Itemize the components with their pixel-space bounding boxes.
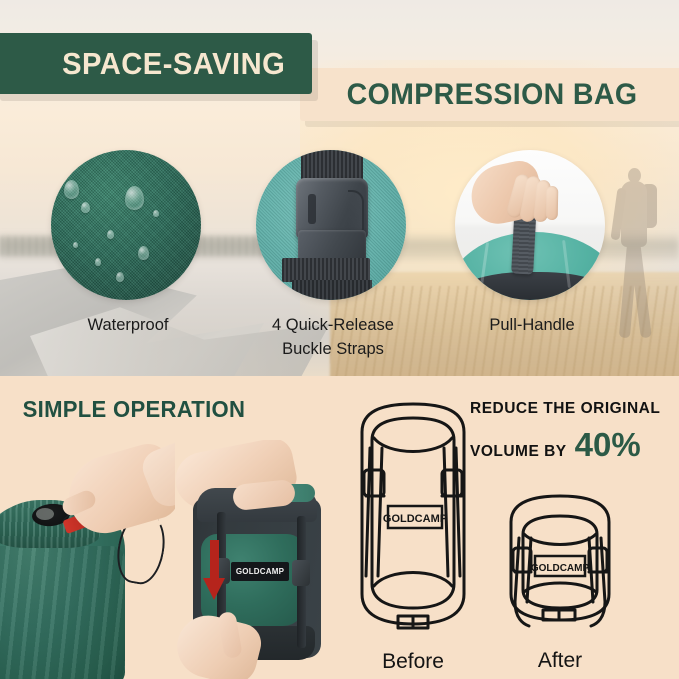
webbing-strap-tail <box>292 280 372 300</box>
water-droplet <box>107 230 114 239</box>
bag-brand-text: GOLDCAMP <box>236 567 284 576</box>
feature-waterproof-image <box>51 150 201 300</box>
feature-buckle-image <box>256 150 406 300</box>
simple-operation-heading: SIMPLE OPERATION <box>23 396 246 423</box>
headline-secondary-text: COMPRESSION BAG <box>347 78 638 112</box>
bag-brand-label: GOLDCAMP <box>231 562 289 581</box>
hiker-silhouette <box>608 168 662 358</box>
after-label: After <box>495 649 625 673</box>
arrow-head <box>203 578 225 600</box>
headline-banner-primary: SPACE-SAVING <box>0 33 312 94</box>
reduction-line-1: REDUCE THE ORIGINAL <box>470 400 660 418</box>
buckle-right <box>292 560 310 586</box>
buckle-slot <box>308 194 316 224</box>
operation-photo-drawstring <box>0 442 196 679</box>
headline-banner-secondary: COMPRESSION BAG <box>300 68 679 121</box>
feature-buckle-label-line2: Buckle Straps <box>256 338 410 362</box>
down-arrow-red-icon <box>203 540 225 602</box>
feature-buckle-straps: 4 Quick-Release Buckle Straps <box>256 150 410 362</box>
water-droplet <box>138 246 149 260</box>
operation-photo-compressing: GOLDCAMP <box>175 440 355 679</box>
before-diagram: GOLDCAMP Before <box>348 398 478 674</box>
water-droplet <box>64 180 79 199</box>
water-droplet <box>95 258 101 266</box>
water-droplet <box>116 272 124 282</box>
feature-pull-handle-image <box>455 150 605 300</box>
waterproof-fabric-texture <box>51 150 201 300</box>
webbing-strap-bottom <box>282 258 370 282</box>
feature-waterproof: Waterproof <box>51 150 205 338</box>
after-bag-outline: GOLDCAMP <box>495 490 625 642</box>
water-droplet <box>153 210 159 217</box>
headline-primary-text: SPACE-SAVING <box>62 46 285 82</box>
water-droplet <box>73 242 78 248</box>
before-bag-outline: GOLDCAMP <box>348 398 478 643</box>
volume-reduction-text: REDUCE THE ORIGINAL VOLUME BY 40% <box>470 400 660 461</box>
water-droplet <box>81 202 90 213</box>
reduction-line-2: VOLUME BY 40% <box>470 428 660 461</box>
feature-waterproof-label: Waterproof <box>51 314 205 338</box>
reduction-prefix: VOLUME BY <box>470 443 567 461</box>
feature-buckle-label: 4 Quick-Release Buckle Straps <box>256 314 410 362</box>
feature-pull-handle: Pull-Handle <box>455 150 609 338</box>
infographic-page: SPACE-SAVING COMPRESSION BAG Waterproof <box>0 0 679 679</box>
finger <box>546 186 559 220</box>
water-droplet <box>125 186 144 210</box>
svg-text:GOLDCAMP: GOLDCAMP <box>383 513 447 525</box>
bag-inner-contents <box>36 508 54 520</box>
bag-fabric-creases <box>0 546 125 679</box>
svg-text:GOLDCAMP: GOLDCAMP <box>531 563 590 574</box>
arrow-shaft <box>210 540 219 580</box>
feature-buckle-label-line1: 4 Quick-Release <box>256 314 410 338</box>
before-label: Before <box>348 650 478 674</box>
reduction-percent: 40% <box>575 428 641 461</box>
feature-pull-handle-label: Pull-Handle <box>455 314 609 338</box>
after-diagram: GOLDCAMP After <box>495 490 625 673</box>
